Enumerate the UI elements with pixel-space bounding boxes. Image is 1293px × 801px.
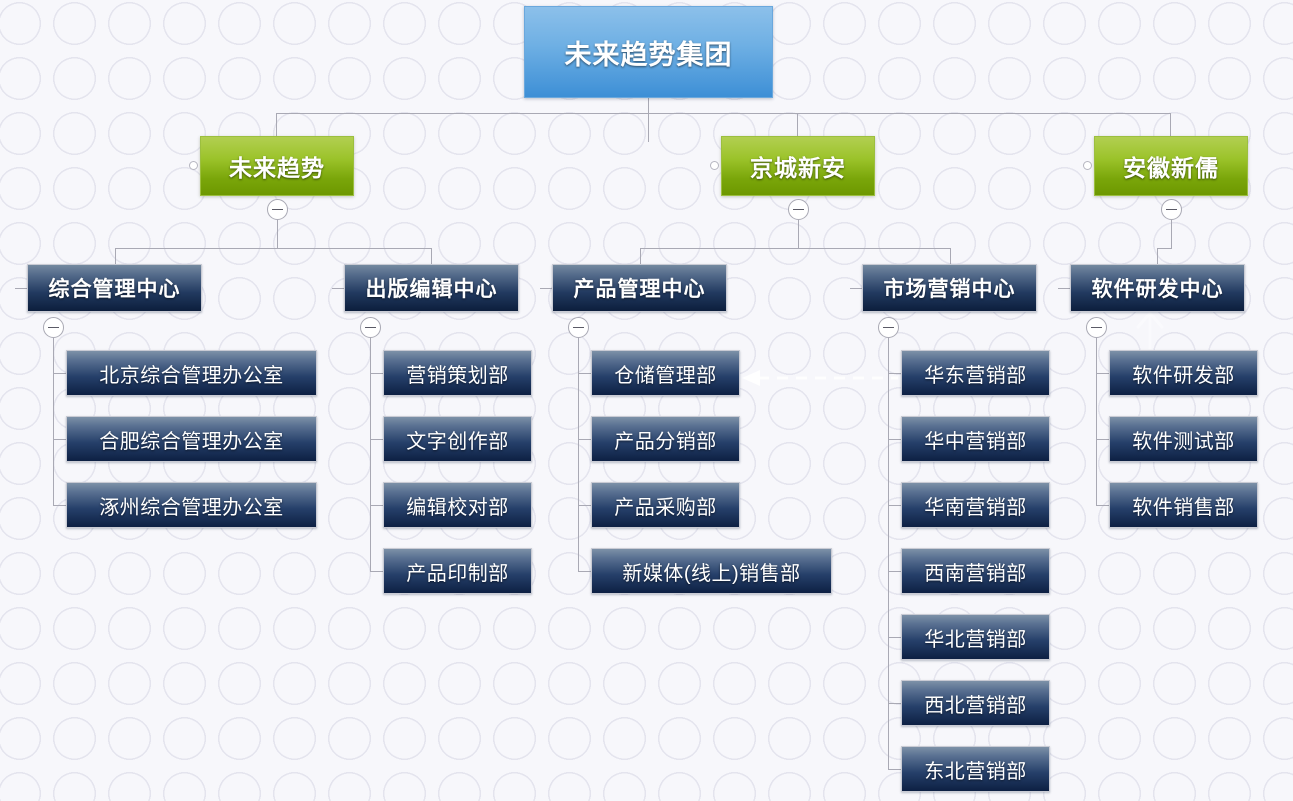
node-department-label: 软件研发部 — [1132, 359, 1235, 388]
node-department[interactable]: 产品采购部 — [591, 482, 740, 528]
anchor-dot-division-3 — [1083, 161, 1092, 170]
node-department-label: 涿州综合管理办公室 — [99, 491, 284, 520]
node-root-label: 未来趋势集团 — [565, 33, 733, 72]
node-department[interactable]: 新媒体(线上)销售部 — [591, 548, 832, 594]
node-department-label: 西北营销部 — [924, 689, 1027, 718]
node-root[interactable]: 未来趋势集团 — [524, 6, 773, 98]
node-department[interactable]: 营销策划部 — [383, 350, 532, 396]
connector-anchor-stub-ruanjian — [1058, 288, 1070, 289]
node-department[interactable]: 涿州综合管理办公室 — [66, 482, 317, 528]
node-division-jingcheng-xinan[interactable]: 京城新安 — [721, 136, 875, 196]
node-department[interactable]: 软件研发部 — [1109, 350, 1258, 396]
node-department[interactable]: 北京综合管理办公室 — [66, 350, 317, 396]
connector-stub-zonghe-2 — [53, 439, 66, 440]
connector-anchor-stub-chanpin — [540, 288, 552, 289]
connector-stub-chanpin-4 — [578, 571, 591, 572]
connector-to-division-2 — [797, 113, 798, 137]
connector-spine-ruanjian — [1096, 338, 1097, 505]
collapse-button-division-2[interactable] — [788, 199, 809, 220]
node-department[interactable]: 产品印制部 — [383, 548, 532, 594]
connector-stub-chanpin-3 — [578, 505, 591, 506]
node-department-label: 华中营销部 — [924, 425, 1027, 454]
node-department-label: 新媒体(线上)销售部 — [622, 557, 800, 586]
node-department-label: 营销策划部 — [406, 359, 509, 388]
node-department[interactable]: 东北营销部 — [901, 746, 1050, 792]
connector-spine-shichang — [888, 338, 889, 769]
node-center-chuban-bianji[interactable]: 出版编辑中心 — [344, 264, 519, 312]
node-center-chanpin-guanli[interactable]: 产品管理中心 — [552, 264, 727, 312]
collapse-button-center-chanpin[interactable] — [568, 317, 589, 338]
node-department-label: 编辑校对部 — [406, 491, 509, 520]
connector-stub-chanpin-2 — [578, 439, 591, 440]
node-department[interactable]: 编辑校对部 — [383, 482, 532, 528]
connector-to-center-ruanjian — [1157, 248, 1158, 264]
node-department-label: 软件测试部 — [1132, 425, 1235, 454]
node-department[interactable]: 西北营销部 — [901, 680, 1050, 726]
node-division-label: 安徽新儒 — [1123, 149, 1219, 183]
connector-division-3-trunk — [1157, 248, 1172, 249]
connector-stub-shichang-4 — [888, 571, 901, 572]
node-division-weilai-qushi[interactable]: 未来趋势 — [200, 136, 354, 196]
node-department[interactable]: 仓储管理部 — [591, 350, 740, 396]
connector-stub-zonghe-1 — [53, 373, 66, 374]
node-department-label: 北京综合管理办公室 — [99, 359, 284, 388]
node-department-label: 华北营销部 — [924, 623, 1027, 652]
node-department-label: 华南营销部 — [924, 491, 1027, 520]
connector-stub-chuban-2 — [370, 439, 383, 440]
node-center-label: 综合管理中心 — [49, 273, 181, 303]
collapse-button-center-shichang[interactable] — [878, 317, 899, 338]
node-department-label: 产品分销部 — [614, 425, 717, 454]
connector-stub-shichang-3 — [888, 505, 901, 506]
node-department-label: 合肥综合管理办公室 — [99, 425, 284, 454]
node-department[interactable]: 华中营销部 — [901, 416, 1050, 462]
node-department-label: 软件销售部 — [1132, 491, 1235, 520]
connector-stub-shichang-7 — [888, 769, 901, 770]
node-division-label: 未来趋势 — [229, 149, 325, 183]
connector-root-trunk — [276, 113, 1170, 114]
connector-stub-shichang-5 — [888, 637, 901, 638]
node-department[interactable]: 华东营销部 — [901, 350, 1050, 396]
node-center-label: 软件研发中心 — [1092, 273, 1224, 303]
node-department-label: 东北营销部 — [924, 755, 1027, 784]
node-division-anhui-xinru[interactable]: 安徽新儒 — [1094, 136, 1248, 196]
node-department-label: 仓储管理部 — [614, 359, 717, 388]
connector-anchor-stub-shichang — [850, 288, 862, 289]
collapse-button-center-chuban[interactable] — [360, 317, 381, 338]
connector-stub-chuban-3 — [370, 505, 383, 506]
node-department-label: 华东营销部 — [924, 359, 1027, 388]
connector-to-center-chanpin — [640, 248, 641, 264]
node-center-label: 出版编辑中心 — [366, 273, 498, 303]
connector-to-division-1 — [276, 113, 277, 137]
connector-stub-ruanjian-1 — [1096, 373, 1109, 374]
dashed-pointer-arrow-icon — [740, 366, 900, 390]
node-center-shichang-yingxiao[interactable]: 市场营销中心 — [862, 264, 1037, 312]
node-department-label: 西南营销部 — [924, 557, 1027, 586]
connector-division-1-stem — [277, 220, 278, 249]
node-department[interactable]: 软件测试部 — [1109, 416, 1258, 462]
connector-stub-shichang-2 — [888, 439, 901, 440]
upward-pointer-arrow-icon — [1128, 308, 1172, 352]
connector-division-2-trunk — [640, 248, 950, 249]
connector-stub-chanpin-1 — [578, 373, 591, 374]
connector-to-center-chuban — [431, 248, 432, 264]
connector-to-center-zonghe — [115, 248, 116, 264]
connector-to-division-3 — [1170, 113, 1171, 137]
node-department-label: 文字创作部 — [406, 425, 509, 454]
connector-stub-chuban-1 — [370, 373, 383, 374]
node-department[interactable]: 西南营销部 — [901, 548, 1050, 594]
node-department[interactable]: 合肥综合管理办公室 — [66, 416, 317, 462]
node-center-label: 市场营销中心 — [884, 273, 1016, 303]
node-department[interactable]: 文字创作部 — [383, 416, 532, 462]
node-department[interactable]: 软件销售部 — [1109, 482, 1258, 528]
connector-stub-chuban-4 — [370, 571, 383, 572]
node-department[interactable]: 产品分销部 — [591, 416, 740, 462]
node-center-zonghe-guanli[interactable]: 综合管理中心 — [27, 264, 202, 312]
connector-division-3-stem — [1171, 220, 1172, 249]
node-division-label: 京城新安 — [750, 149, 846, 183]
node-department[interactable]: 华南营销部 — [901, 482, 1050, 528]
connector-division-2-stem — [798, 220, 799, 249]
connector-stub-shichang-6 — [888, 703, 901, 704]
node-department[interactable]: 华北营销部 — [901, 614, 1050, 660]
connector-anchor-stub-zonghe — [15, 288, 27, 289]
org-chart-canvas: 未来趋势集团 未来趋势 京城新安 安徽新儒 综合管理中心 出版编辑中心 产品管理… — [0, 0, 1293, 801]
node-department-label: 产品印制部 — [406, 557, 509, 586]
connector-spine-zonghe — [53, 338, 54, 505]
connector-anchor-stub-chuban — [332, 288, 344, 289]
connector-stub-zonghe-3 — [53, 505, 66, 506]
collapse-button-center-zonghe[interactable] — [43, 317, 64, 338]
connector-division-1-trunk — [115, 248, 431, 249]
collapse-button-division-1[interactable] — [267, 199, 288, 220]
anchor-dot-division-2 — [710, 161, 719, 170]
node-center-ruanjian-yanfa[interactable]: 软件研发中心 — [1070, 264, 1245, 312]
node-department-label: 产品采购部 — [614, 491, 717, 520]
collapse-button-division-3[interactable] — [1161, 199, 1182, 220]
collapse-button-center-ruanjian[interactable] — [1086, 317, 1107, 338]
connector-stub-ruanjian-3 — [1096, 505, 1109, 506]
anchor-dot-division-1 — [189, 161, 198, 170]
connector-stub-ruanjian-2 — [1096, 439, 1109, 440]
connector-stub-shichang-1 — [888, 373, 901, 374]
node-center-label: 产品管理中心 — [574, 273, 706, 303]
connector-root-stem — [648, 98, 649, 142]
connector-to-center-shichang — [950, 248, 951, 264]
